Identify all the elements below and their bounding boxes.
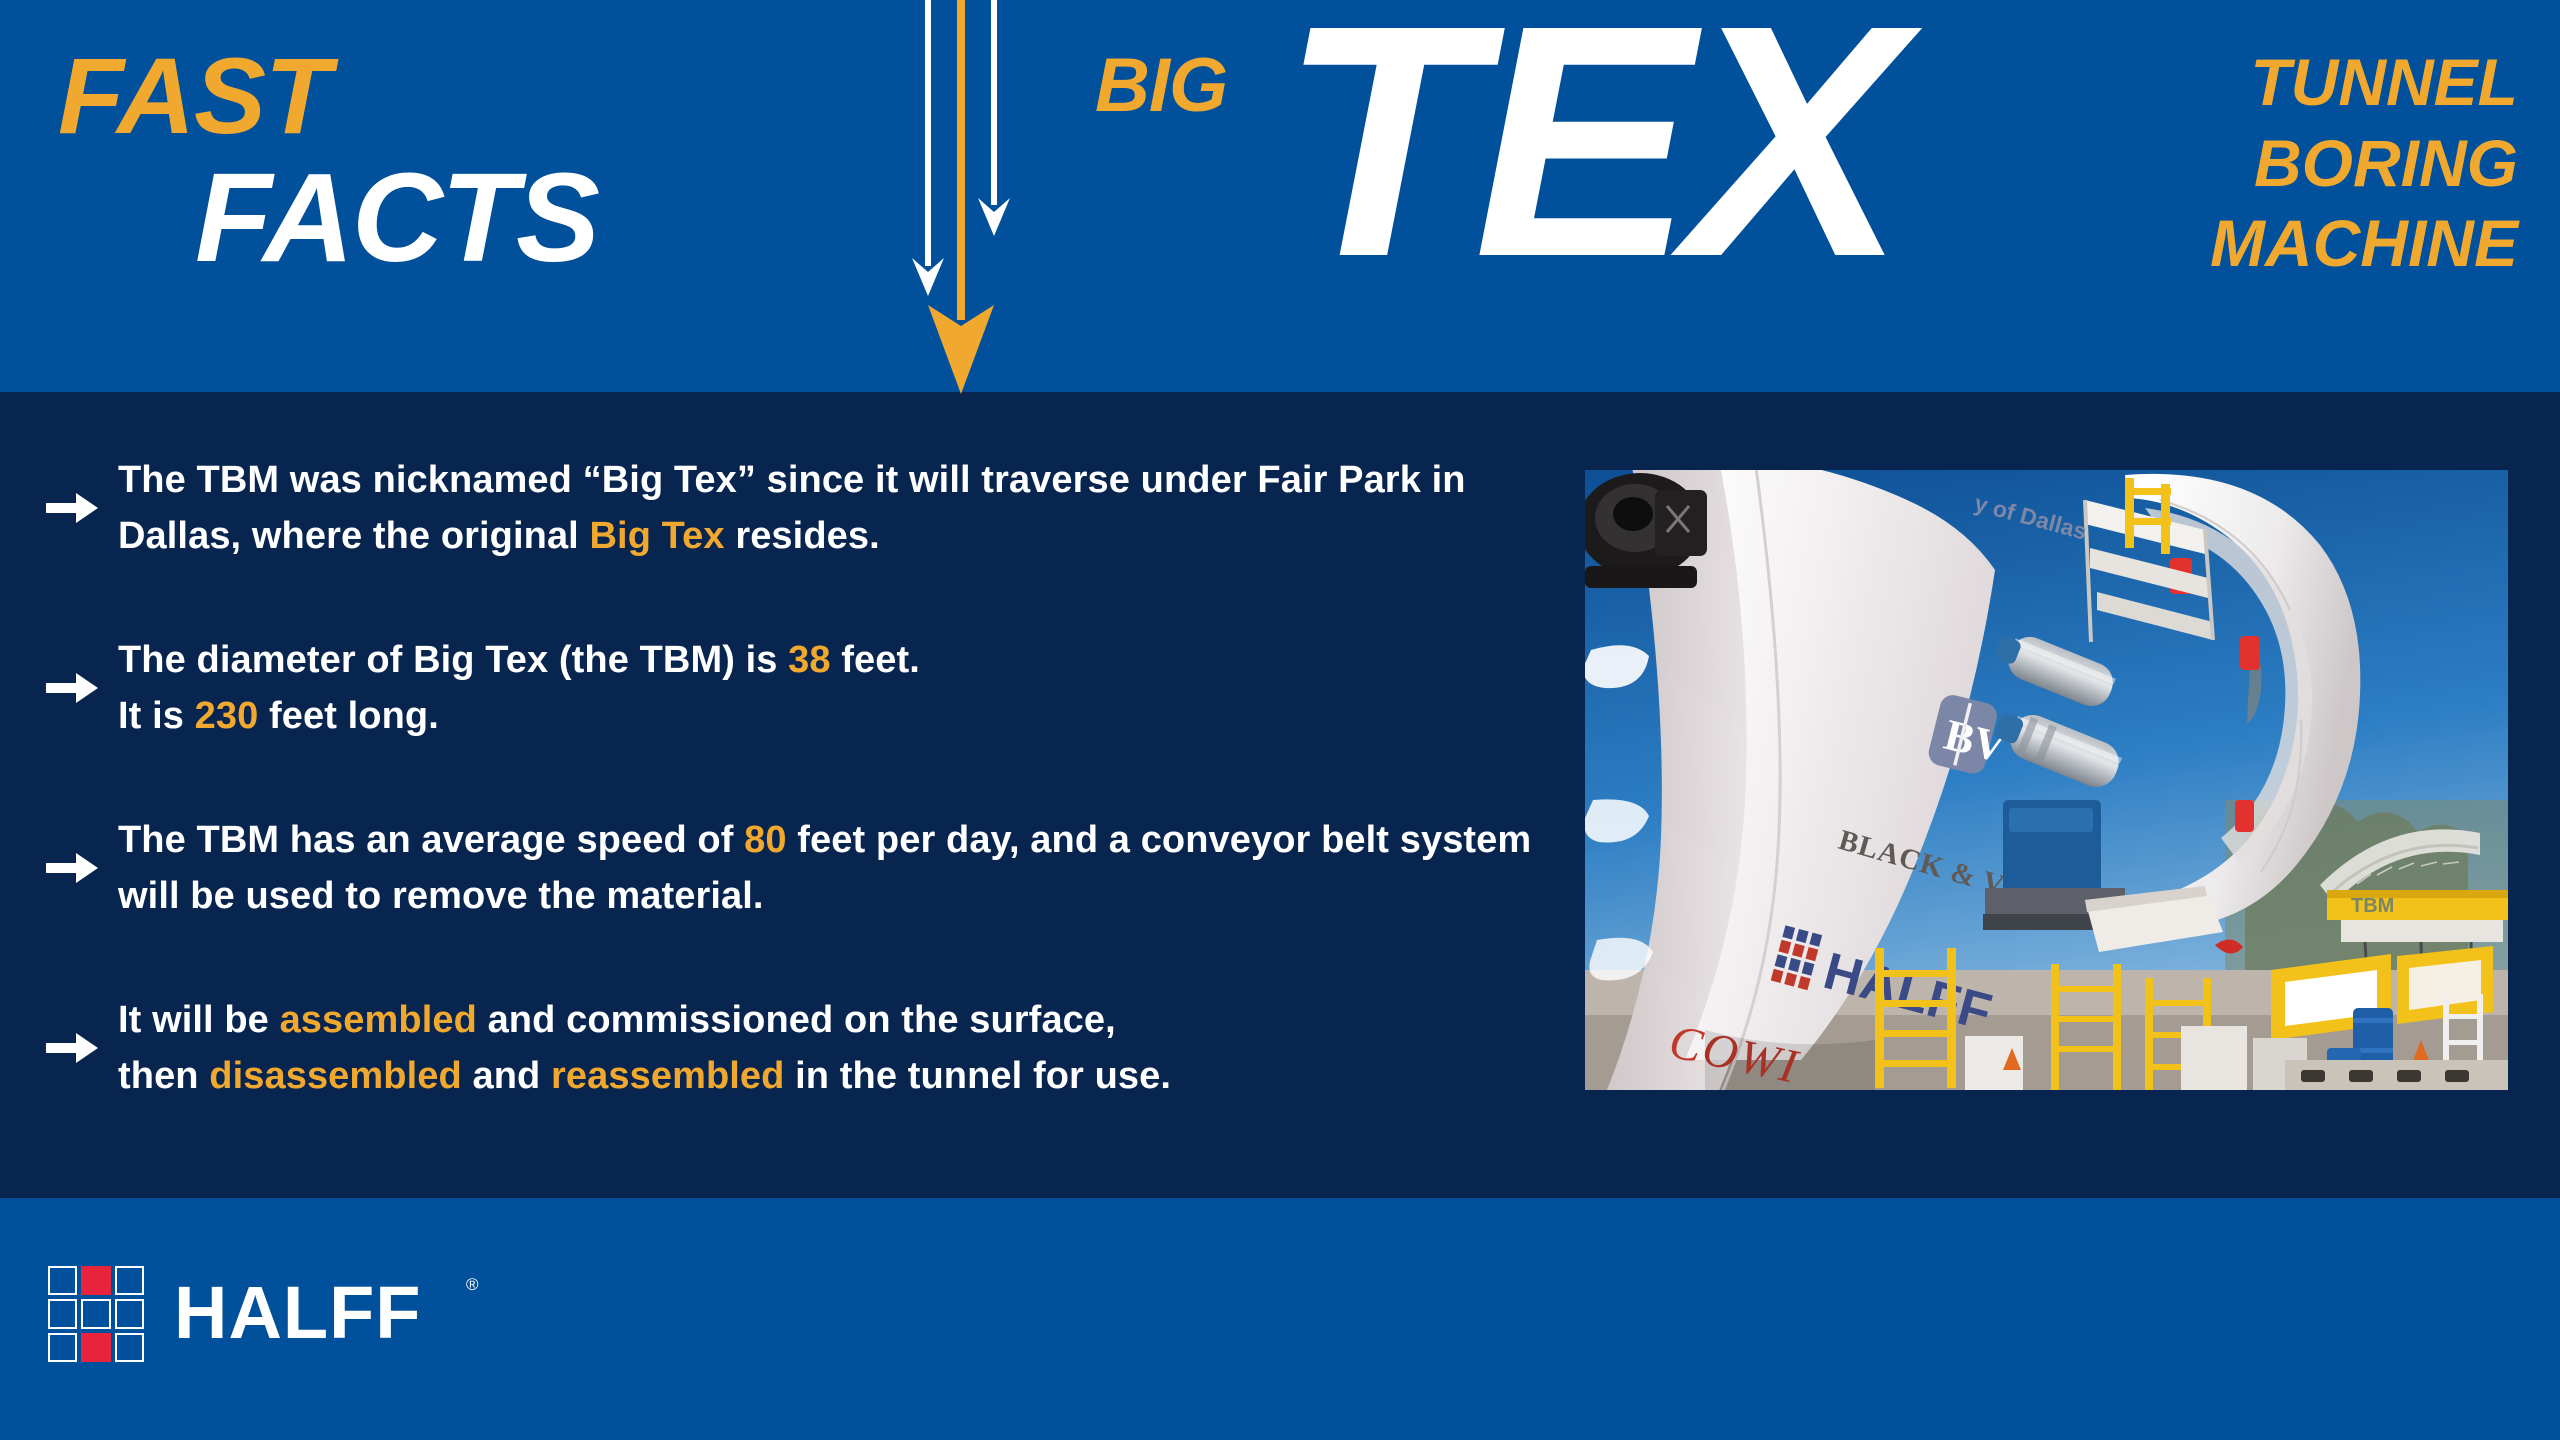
fact-plain: feet. [831, 639, 920, 681]
fact-text: The diameter of Big Tex (the TBM) is 38 … [118, 632, 920, 744]
fact-plain: The TBM has an average speed of [118, 819, 744, 861]
tbm-subtitle-line-2: BORING [1878, 123, 2518, 204]
fact-text: It will be assembled and commissioned on… [118, 992, 1171, 1104]
halff-grid-logo [48, 1266, 144, 1362]
halff-wordmark: HALFF [174, 1276, 422, 1350]
logo-cell-2 [81, 1266, 110, 1295]
logo-cell-8 [81, 1333, 110, 1362]
fact-highlight: 230 [195, 695, 259, 737]
fact-plain: It is [118, 695, 195, 737]
fact-text: The TBM was nicknamed “Big Tex” since it… [118, 452, 1540, 564]
arrow-right-white-icon [978, 0, 1010, 236]
fact-plain: then [118, 1055, 209, 1097]
tbm-subtitle-line-1: TUNNEL [1878, 42, 2518, 123]
arrow-left-white-icon [912, 0, 944, 296]
fast-facts-title-group: FAST FACTS [0, 0, 880, 392]
fact-highlight: 80 [744, 819, 786, 861]
arrow-right-icon [40, 851, 118, 885]
logo-cell-1 [48, 1266, 77, 1295]
arrow-right-icon [40, 491, 118, 525]
fact-row: The diameter of Big Tex (the TBM) is 38 … [40, 632, 1540, 744]
fact-plain: in the tunnel for use. [784, 1055, 1171, 1097]
fact-plain: resides. [725, 515, 880, 557]
logo-cell-9 [115, 1333, 144, 1362]
tbm-subtitle: TUNNEL BORING MACHINE [1878, 42, 2518, 284]
fact-plain: feet long. [258, 695, 439, 737]
fact-row: The TBM was nicknamed “Big Tex” since it… [40, 452, 1540, 564]
logo-cell-3 [115, 1266, 144, 1295]
facts-word: FACTS [195, 155, 598, 281]
facts-list: The TBM was nicknamed “Big Tex” since it… [0, 392, 1560, 1198]
logo-cell-5 [81, 1299, 110, 1328]
fact-highlight: assembled [280, 999, 477, 1041]
fast-word: FAST [58, 42, 330, 150]
registered-mark: ® [466, 1276, 479, 1293]
logo-cell-6 [115, 1299, 144, 1328]
fact-plain: It will be [118, 999, 280, 1041]
fact-highlight: 38 [788, 639, 830, 681]
fact-highlight: reassembled [551, 1055, 784, 1097]
svg-text:TBM: TBM [2351, 895, 2394, 917]
arrow-right-icon [40, 1031, 118, 1065]
fact-row: It will be assembled and commissioned on… [40, 992, 1540, 1104]
halff-logo: HALFF ® [48, 1262, 468, 1367]
logo-cell-7 [48, 1333, 77, 1362]
fact-row: The TBM has an average speed of 80 feet … [40, 812, 1540, 924]
tex-word: TEX [1280, 0, 1898, 306]
fact-plain: and commissioned on the surface, [477, 999, 1116, 1041]
arrow-right-icon [40, 671, 118, 705]
fact-plain: The diameter of Big Tex (the TBM) is [118, 639, 788, 681]
fact-text: The TBM has an average speed of 80 feet … [118, 812, 1540, 924]
tbm-subtitle-line-3: MACHINE [1878, 203, 2518, 284]
logo-cell-4 [48, 1299, 77, 1328]
downward-arrows-group [900, 0, 1080, 410]
big-word: BIG [1095, 48, 1227, 124]
fact-highlight: disassembled [209, 1055, 462, 1097]
tbm-cutterhead-photo: y of Dallas BV BLACK & VEATCH [1585, 470, 2508, 1090]
arrow-center-amber-icon [928, 0, 994, 394]
fact-highlight: Big Tex [590, 515, 725, 557]
fact-plain: and [462, 1055, 551, 1097]
